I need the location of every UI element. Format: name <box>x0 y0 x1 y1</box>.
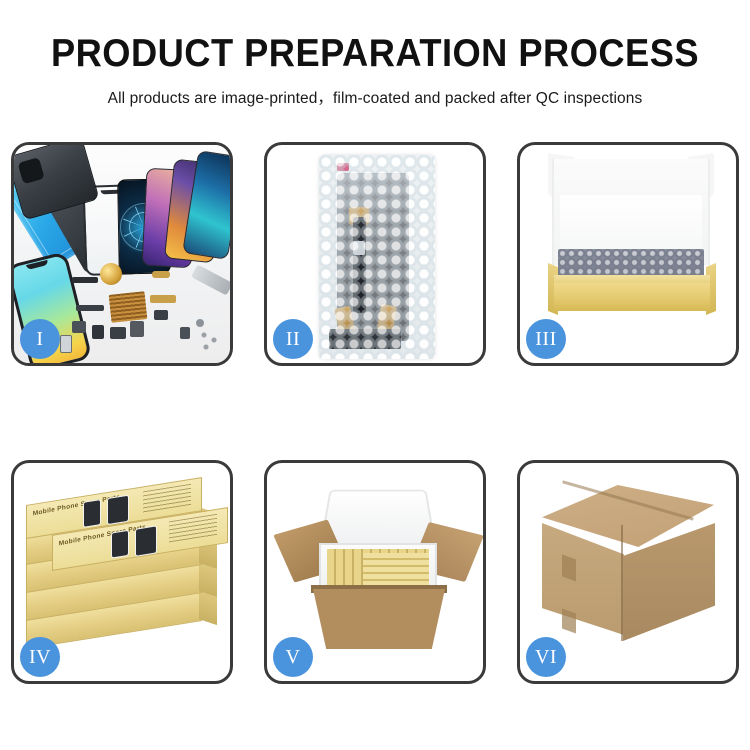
box-print-spec-lines-2 <box>169 514 217 544</box>
carton-left-face <box>542 523 624 635</box>
process-step-grid: I II <box>11 142 739 684</box>
carton-front-edge <box>621 525 623 641</box>
product-preparation-process-page: PRODUCT PREPARATION PROCESS All products… <box>0 0 750 750</box>
spare-part-bracket <box>72 321 86 333</box>
process-step-panel-6: VI <box>517 460 739 684</box>
step-badge-6: VI <box>526 637 566 677</box>
spare-part-camera <box>130 321 144 337</box>
flex-cable-chip <box>353 241 365 255</box>
carton-tape-lower <box>562 608 576 633</box>
spare-part-sim-tray <box>60 335 72 353</box>
page-title: PRODUCT PREPARATION PROCESS <box>26 34 724 75</box>
step-badge-4: IV <box>20 637 60 677</box>
spare-part-connector <box>154 310 168 320</box>
carton-front-panel <box>313 589 445 649</box>
process-step-panel-1: I <box>11 142 233 366</box>
spare-part-speaker <box>92 325 104 339</box>
step-badge-1: I <box>20 319 60 359</box>
spare-part-gold-clip <box>152 271 170 278</box>
spare-part-strip <box>72 277 98 283</box>
spare-part-screw-head <box>196 319 204 327</box>
camera-module <box>18 157 45 184</box>
carton-tape-upper <box>562 554 576 581</box>
process-step-panel-3: III <box>517 142 739 366</box>
process-step-panel-5: V <box>264 460 486 684</box>
spare-part-gold-flex <box>150 295 176 303</box>
flex-cable <box>353 217 366 313</box>
yellow-boxes-row-2 <box>363 553 429 589</box>
box-print-spec-lines-1 <box>143 484 191 514</box>
box-front-panel <box>554 283 710 311</box>
spare-part-button <box>180 327 190 339</box>
process-step-panel-4: Mobile Phone Spare Parts Mobile Phone Sp… <box>11 460 233 684</box>
spare-part-flex-cable <box>76 305 104 311</box>
process-step-panel-2: II <box>264 142 486 366</box>
box-print-phone-thumb-4 <box>135 525 157 556</box>
gold-chip-grid <box>109 291 148 323</box>
screw-set <box>200 331 224 353</box>
pink-label-tab <box>337 163 349 171</box>
page-subtitle: All products are image-printed，film-coat… <box>0 86 750 108</box>
step-badge-3: III <box>526 319 566 359</box>
step-badge-2: II <box>273 319 313 359</box>
screen-bottom-strip <box>329 329 401 349</box>
page-header: PRODUCT PREPARATION PROCESS All products… <box>0 0 750 108</box>
spare-part-module <box>110 327 126 339</box>
styrofoam-lid <box>319 490 436 548</box>
gold-coil-part <box>100 263 122 285</box>
bubble-wrap-package <box>319 155 435 359</box>
step-badge-5: V <box>273 637 313 677</box>
box-print-phone-thumb-1 <box>83 499 101 528</box>
box-print-phone-thumb-3 <box>111 530 129 559</box>
box-print-phone-thumb-2 <box>107 495 129 525</box>
